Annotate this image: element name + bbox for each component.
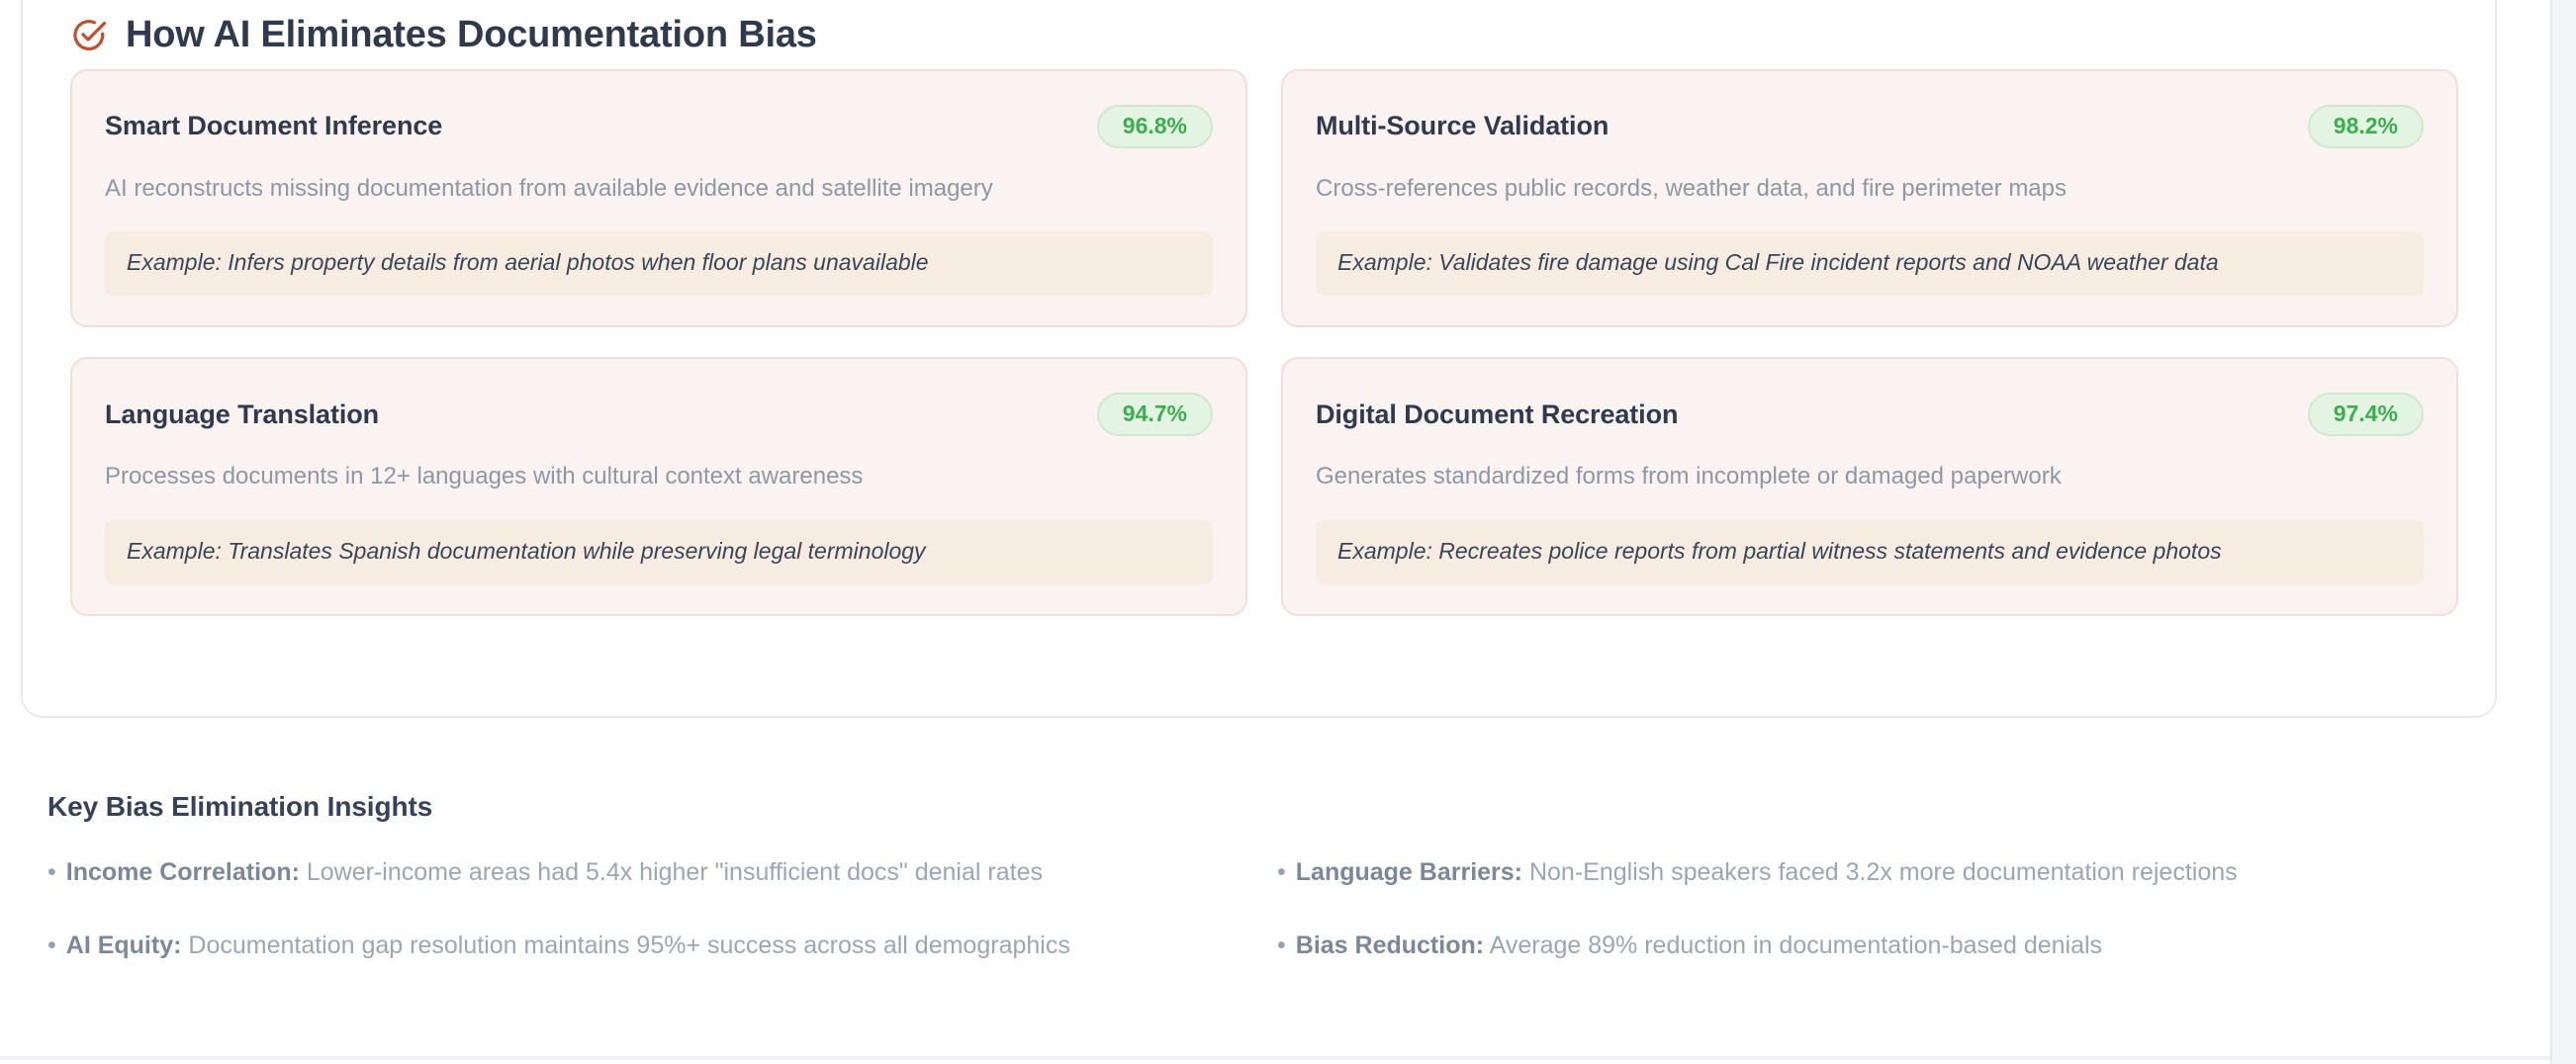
- feature-card-title: Smart Document Inference: [105, 111, 442, 141]
- feature-card[interactable]: Digital Document Recreation 97.4% Genera…: [1281, 357, 2458, 615]
- feature-card-description: Generates standardized forms from incomp…: [1316, 461, 2424, 492]
- feature-card-header: Smart Document Inference 96.8%: [105, 105, 1213, 148]
- feature-card-title: Multi-Source Validation: [1316, 111, 1609, 141]
- feature-card-example-text: Example: Infers property details from ae…: [127, 248, 1191, 278]
- feature-card[interactable]: Language Translation 94.7% Processes doc…: [70, 357, 1247, 615]
- feature-card-example-box: Example: Validates fire damage using Cal…: [1316, 231, 2424, 296]
- bullet-icon: •: [1277, 857, 1286, 887]
- insight-item: • Language Barriers: Non-English speaker…: [1277, 857, 2461, 887]
- page-content: How AI Eliminates Documentation Bias Sma…: [0, 0, 2550, 1060]
- feature-card[interactable]: Smart Document Inference 96.8% AI recons…: [70, 69, 1247, 327]
- insight-text: Average 89% reduction in documentation-b…: [1490, 931, 2102, 959]
- accuracy-badge: 98.2%: [2308, 105, 2424, 148]
- ai-bias-panel: How AI Eliminates Documentation Bias Sma…: [21, 0, 2497, 718]
- feature-card-example-box: Example: Recreates police reports from p…: [1316, 520, 2424, 584]
- insight-body: Language Barriers: Non-English speakers …: [1296, 857, 2238, 887]
- insight-body: Income Correlation: Lower-income areas h…: [66, 857, 1043, 887]
- insight-label: AI Equity:: [66, 931, 182, 959]
- feature-card-example-box: Example: Infers property details from ae…: [105, 231, 1213, 296]
- insight-label: Bias Reduction:: [1296, 931, 1484, 959]
- feature-card-grid: Smart Document Inference 96.8% AI recons…: [70, 69, 2448, 616]
- bullet-icon: •: [47, 931, 56, 960]
- bullet-icon: •: [47, 857, 56, 887]
- feature-card-header: Multi-Source Validation 98.2%: [1316, 105, 2424, 148]
- page-bottom-divider: [0, 1056, 2550, 1060]
- insight-label: Income Correlation:: [66, 858, 300, 886]
- accuracy-badge: 94.7%: [1097, 393, 1213, 436]
- bullet-icon: •: [1277, 931, 1286, 960]
- vertical-scrollbar-track[interactable]: [2550, 0, 2576, 1064]
- feature-card-title: Language Translation: [105, 399, 379, 430]
- feature-card[interactable]: Multi-Source Validation 98.2% Cross-refe…: [1281, 69, 2458, 327]
- check-circle-icon: [70, 17, 107, 53]
- page-root: How AI Eliminates Documentation Bias Sma…: [0, 0, 2576, 1064]
- feature-card-description: AI reconstructs missing documentation fr…: [105, 173, 1213, 205]
- insight-body: Bias Reduction: Average 89% reduction in…: [1296, 931, 2102, 960]
- accuracy-badge: 96.8%: [1097, 105, 1213, 148]
- insight-text: Documentation gap resolution maintains 9…: [188, 931, 1069, 959]
- feature-card-header: Language Translation 94.7%: [105, 393, 1213, 436]
- insight-text: Non-English speakers faced 3.2x more doc…: [1529, 858, 2238, 886]
- feature-card-description: Processes documents in 12+ languages wit…: [105, 461, 1213, 492]
- key-insights-section: Key Bias Elimination Insights • Income C…: [47, 793, 2461, 960]
- accuracy-badge: 97.4%: [2308, 393, 2424, 436]
- feature-card-example-text: Example: Recreates police reports from p…: [1337, 537, 2402, 567]
- insight-body: AI Equity: Documentation gap resolution …: [66, 931, 1070, 960]
- insight-label: Language Barriers:: [1296, 858, 1522, 886]
- page-title: How AI Eliminates Documentation Bias: [126, 16, 817, 53]
- feature-card-example-box: Example: Translates Spanish documentatio…: [105, 520, 1213, 584]
- feature-card-title: Digital Document Recreation: [1316, 399, 1678, 430]
- feature-card-example-text: Example: Validates fire damage using Cal…: [1337, 248, 2402, 278]
- insight-item: • AI Equity: Documentation gap resolutio…: [47, 931, 1277, 960]
- insight-text: Lower-income areas had 5.4x higher "insu…: [307, 858, 1043, 886]
- feature-card-header: Digital Document Recreation 97.4%: [1316, 393, 2424, 436]
- feature-card-example-text: Example: Translates Spanish documentatio…: [127, 537, 1191, 567]
- insights-heading: Key Bias Elimination Insights: [47, 793, 2461, 821]
- insights-grid: • Income Correlation: Lower-income areas…: [47, 857, 2461, 960]
- insight-item: • Bias Reduction: Average 89% reduction …: [1277, 931, 2461, 960]
- feature-card-description: Cross-references public records, weather…: [1316, 173, 2424, 205]
- insight-item: • Income Correlation: Lower-income areas…: [47, 857, 1277, 887]
- panel-header: How AI Eliminates Documentation Bias: [70, 16, 817, 53]
